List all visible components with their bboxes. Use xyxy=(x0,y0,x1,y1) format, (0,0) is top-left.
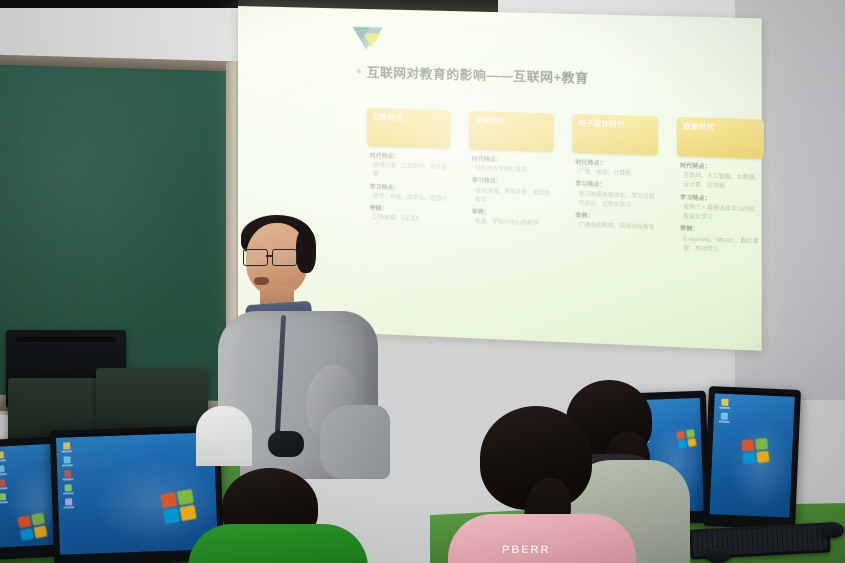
monitor-screen xyxy=(710,393,795,517)
desktop-icon-column xyxy=(719,399,731,423)
classroom-photo-scene: 互联网对教育的影响——互联网+教育 口传时代 时代特点： 结绳记事、口耳相传、言… xyxy=(0,0,845,563)
glasses-lens-left xyxy=(243,249,268,266)
mouse-left xyxy=(706,548,730,563)
desktop-icon-column xyxy=(0,451,8,504)
desktop-icon xyxy=(0,479,8,490)
desktop-icon-column xyxy=(61,442,74,508)
student-pink-hoodie: PBERR xyxy=(432,406,642,563)
desktop-icon xyxy=(62,470,73,480)
glasses-bridge xyxy=(266,255,272,257)
student-green-hoodie-garment xyxy=(188,524,368,563)
presenter-hand-device xyxy=(268,431,304,457)
foreground-layer: PBERR xyxy=(0,0,845,563)
desktop-icon xyxy=(719,399,730,409)
desktop-icon xyxy=(0,493,8,504)
student-shirt-text: PBERR xyxy=(502,544,551,556)
presenter-mouth xyxy=(254,277,269,285)
desktop-icon xyxy=(62,456,73,466)
desktop-icon xyxy=(0,465,7,476)
monitor-right-2 xyxy=(703,386,801,530)
presenter-glasses xyxy=(243,249,299,264)
mouse-right xyxy=(820,522,844,538)
monitor-vent xyxy=(16,337,117,342)
student-far-left-garment xyxy=(196,406,252,466)
presenter-hair-side xyxy=(296,229,316,273)
student-far-left xyxy=(196,386,252,456)
desktop-icon xyxy=(63,484,74,494)
desktop-icon xyxy=(719,413,730,423)
desktop-icon xyxy=(0,451,6,462)
student-green-hoodie xyxy=(192,468,362,563)
windows-logo-icon xyxy=(741,438,769,464)
glasses-lens-right xyxy=(272,249,297,266)
desktop-icon xyxy=(63,498,74,508)
windows-logo-icon xyxy=(17,513,47,542)
desktop-icon xyxy=(61,442,72,452)
